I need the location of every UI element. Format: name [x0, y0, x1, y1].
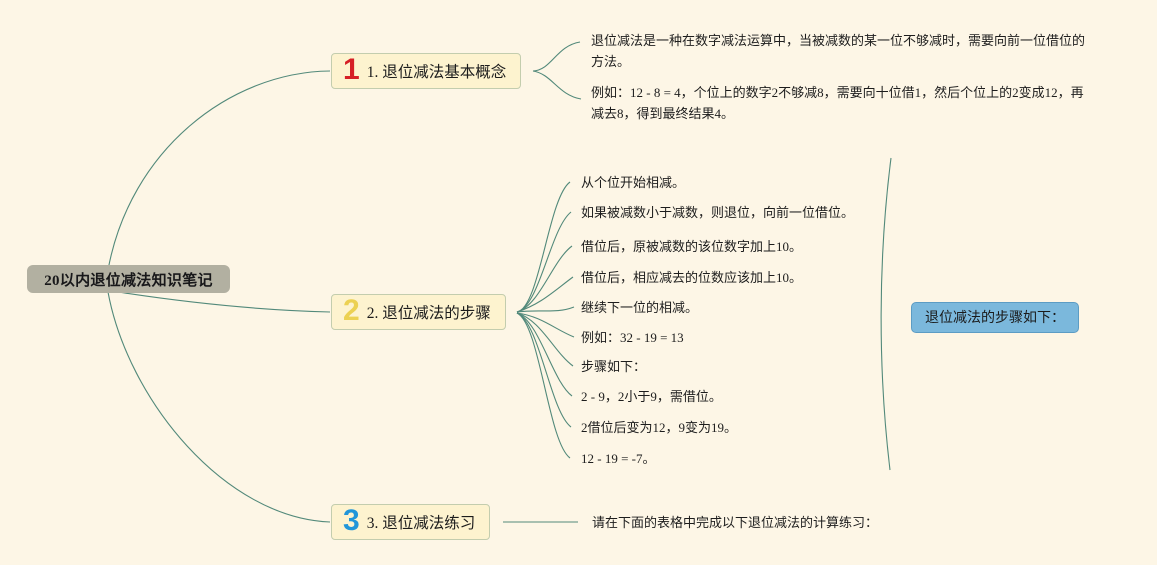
leaf-branch2-2[interactable]: 如果被减数小于减数，则退位，向前一位借位。 — [581, 202, 854, 223]
wire-branch2-leaf3 — [517, 246, 572, 312]
leaf-branch1-1[interactable]: 退位减法是一种在数字减法运算中，当被减数的某一位不够减时，需要向前一位借位的方法… — [591, 30, 1096, 72]
highlighted-callout[interactable]: 退位减法的步骤如下： — [911, 302, 1079, 333]
branch-3-label: 3. 退位减法练习 — [367, 511, 476, 533]
leaf-branch1-2[interactable]: 例如：12 - 8 = 4，个位上的数字2不够减8，需要向十位借1，然后个位上的… — [591, 82, 1096, 124]
wire-root-to-branch3 — [108, 292, 330, 522]
highlighted-callout-label: 退位减法的步骤如下： — [925, 311, 1065, 326]
wire-root-to-branch2 — [118, 292, 330, 312]
branch-node-3[interactable]: 3 3. 退位减法练习 — [331, 504, 490, 540]
branch-1-number: 1 — [343, 55, 360, 85]
branch-3-number: 3 — [343, 506, 360, 536]
mindmap-canvas[interactable]: 20以内退位减法知识笔记 1 1. 退位减法基本概念 退位减法是一种在数字减法运… — [0, 0, 1157, 565]
wire-branch2-leaf8 — [517, 313, 572, 396]
root-node-label: 20以内退位减法知识笔记 — [44, 269, 213, 290]
leaf-branch2-10[interactable]: 12 - 19 = -7。 — [581, 448, 656, 469]
leaf-branch3-1[interactable]: 请在下面的表格中完成以下退位减法的计算练习： — [592, 512, 878, 533]
branch-2-label: 2. 退位减法的步骤 — [367, 301, 491, 323]
leaf-branch2-9[interactable]: 2借位后变为12，9变为19。 — [581, 417, 737, 438]
wire-branch2-leaf6 — [517, 313, 574, 337]
leaf-branch2-8[interactable]: 2 - 9，2小于9，需借位。 — [581, 386, 722, 407]
branch-1-label: 1. 退位减法基本概念 — [367, 60, 507, 82]
wire-branch2-leaf7 — [517, 313, 573, 366]
wire-branch2-leaf2 — [517, 212, 571, 312]
leaf-branch2-3[interactable]: 借位后，原被减数的该位数字加上10。 — [581, 236, 802, 257]
wire-branch2-leaf5 — [517, 307, 574, 312]
wire-branch1-leaf1 — [533, 42, 580, 71]
leaf-branch2-4[interactable]: 借位后，相应减去的位数应该加上10。 — [581, 267, 802, 288]
wire-branch1-leaf2 — [533, 71, 581, 99]
leaf-branch2-5[interactable]: 继续下一位的相减。 — [581, 297, 698, 318]
wire-branch2-leaf1 — [517, 182, 570, 312]
wire-root-to-branch1 — [108, 71, 330, 270]
wire-branch2-leaf9 — [517, 313, 571, 427]
wire-branch2-leaf10 — [517, 313, 570, 458]
wire-group-bracket — [881, 158, 891, 470]
leaf-branch2-7[interactable]: 步骤如下： — [581, 356, 646, 377]
root-node[interactable]: 20以内退位减法知识笔记 — [27, 265, 230, 293]
branch-node-1[interactable]: 1 1. 退位减法基本概念 — [331, 53, 521, 89]
branch-2-number: 2 — [343, 296, 360, 326]
wire-branch2-leaf4 — [517, 277, 573, 312]
leaf-branch2-6[interactable]: 例如：32 - 19 = 13 — [581, 327, 684, 348]
leaf-branch2-1[interactable]: 从个位开始相减。 — [581, 172, 685, 193]
branch-node-2[interactable]: 2 2. 退位减法的步骤 — [331, 294, 506, 330]
